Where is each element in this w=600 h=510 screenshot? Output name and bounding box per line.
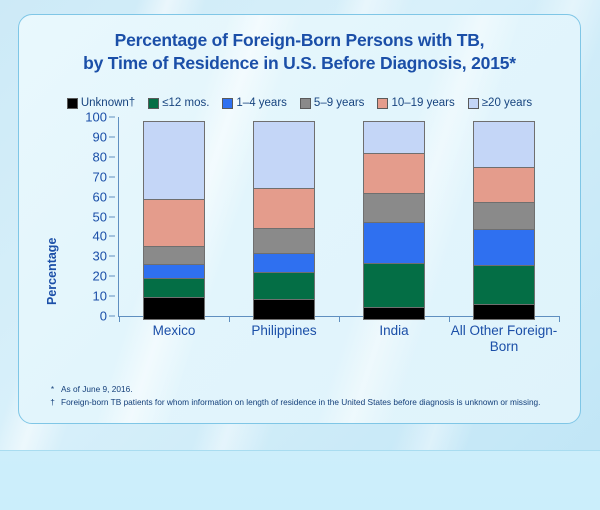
x-axis-tick-mark — [559, 316, 560, 322]
footnote: †Foreign-born TB patients for whom infor… — [49, 396, 560, 409]
legend-label: 5–9 years — [314, 97, 365, 109]
footnotes: *As of June 9, 2016.†Foreign-born TB pat… — [49, 383, 560, 409]
stacked-bar — [363, 121, 425, 320]
legend-swatch-icon — [67, 98, 78, 109]
footnote-text: As of June 9, 2016. — [61, 383, 133, 396]
y-axis-tick-mark — [109, 176, 115, 177]
bar-segment — [473, 304, 535, 320]
y-axis-tick-label: 30 — [93, 249, 107, 264]
bar-segment — [363, 307, 425, 320]
footnote: *As of June 9, 2016. — [49, 383, 560, 396]
chart-title: Percentage of Foreign-Born Persons with … — [19, 15, 580, 75]
y-axis-tick-mark — [109, 276, 115, 277]
x-axis-tick-mark — [339, 316, 340, 322]
chart-panel: Percentage of Foreign-Born Persons with … — [18, 14, 581, 424]
y-axis-tick-mark — [109, 156, 115, 157]
chart-area: Percentage 0102030405060708090100 Mexico… — [19, 117, 580, 365]
y-axis-tick-mark — [109, 117, 115, 118]
y-axis-tick-mark — [109, 216, 115, 217]
bar-segment — [363, 263, 425, 307]
bar-segment — [473, 167, 535, 202]
bar-segment — [143, 121, 205, 199]
legend-item: ≤12 mos. — [148, 97, 209, 109]
legend-swatch-icon — [468, 98, 479, 109]
x-axis-label: India — [339, 323, 449, 339]
y-axis-tick-label: 80 — [93, 149, 107, 164]
stacked-bar — [473, 121, 535, 320]
plot-bars — [119, 121, 559, 320]
y-axis-tick-label: 40 — [93, 229, 107, 244]
y-axis-tick-mark — [109, 256, 115, 257]
bar-segment — [253, 253, 315, 272]
y-axis-tick-label: 0 — [100, 309, 107, 324]
bar-segment — [473, 121, 535, 167]
footnote-marker: † — [49, 396, 56, 409]
chart-title-line-1: Percentage of Foreign-Born Persons with … — [37, 29, 562, 52]
bar-segment — [363, 193, 425, 222]
y-axis-tick-label: 20 — [93, 269, 107, 284]
y-axis-ticks: 0102030405060708090100 — [63, 117, 115, 316]
y-axis-tick-label: 60 — [93, 189, 107, 204]
legend-swatch-icon — [222, 98, 233, 109]
footnote-marker: * — [49, 383, 56, 396]
x-axis-tick-mark — [119, 316, 120, 322]
y-axis-tick-mark — [109, 136, 115, 137]
bar-segment — [473, 229, 535, 265]
legend-swatch-icon — [300, 98, 311, 109]
bar-segment — [253, 228, 315, 253]
y-axis-tick-mark — [109, 196, 115, 197]
legend-swatch-icon — [148, 98, 159, 109]
x-axis-labels: MexicoPhilippinesIndiaAll Other Foreign-… — [119, 323, 559, 363]
x-axis-label: All Other Foreign-Born — [449, 323, 559, 355]
y-axis-tick-mark — [109, 316, 115, 317]
legend-item: ≥20 years — [468, 97, 532, 109]
chart-title-line-2: by Time of Residence in U.S. Before Diag… — [37, 52, 562, 75]
bar-segment — [363, 153, 425, 193]
x-axis-tick-mark — [449, 316, 450, 322]
x-axis-label: Philippines — [229, 323, 339, 339]
legend-label: 10–19 years — [391, 97, 454, 109]
bar-segment — [143, 297, 205, 320]
legend-item: 1–4 years — [222, 97, 287, 109]
bar-segment — [143, 264, 205, 278]
y-axis-label: Percentage — [45, 238, 59, 305]
legend-label: ≥20 years — [482, 97, 532, 109]
bar-segment — [143, 278, 205, 297]
stacked-bar — [253, 121, 315, 320]
x-axis-label: Mexico — [119, 323, 229, 339]
bar-segment — [473, 265, 535, 304]
y-axis-tick-label: 90 — [93, 129, 107, 144]
stacked-bar — [143, 121, 205, 320]
bar-segment — [143, 246, 205, 264]
lower-background-band — [0, 450, 600, 510]
chart-legend: Unknown†≤12 mos.1–4 years5–9 years10–19 … — [19, 97, 580, 109]
bar-segment — [253, 188, 315, 229]
x-axis-tick-mark — [229, 316, 230, 322]
legend-swatch-icon — [377, 98, 388, 109]
legend-label: Unknown† — [81, 97, 135, 109]
legend-item: 5–9 years — [300, 97, 365, 109]
bar-segment — [363, 121, 425, 153]
bar-segment — [473, 202, 535, 230]
bar-segment — [143, 199, 205, 247]
y-axis-tick-label: 50 — [93, 209, 107, 224]
y-axis-tick-mark — [109, 236, 115, 237]
y-axis-tick-label: 100 — [85, 110, 107, 125]
bar-segment — [253, 299, 315, 320]
y-axis-tick-mark — [109, 296, 115, 297]
bar-segment — [253, 272, 315, 299]
legend-item: Unknown† — [67, 97, 135, 109]
legend-label: 1–4 years — [236, 97, 287, 109]
y-axis-tick-label: 70 — [93, 169, 107, 184]
bar-segment — [363, 222, 425, 264]
footnote-text: Foreign-born TB patients for whom inform… — [61, 396, 540, 409]
y-axis-tick-label: 10 — [93, 289, 107, 304]
legend-label: ≤12 mos. — [162, 97, 209, 109]
bar-segment — [253, 121, 315, 188]
legend-item: 10–19 years — [377, 97, 454, 109]
